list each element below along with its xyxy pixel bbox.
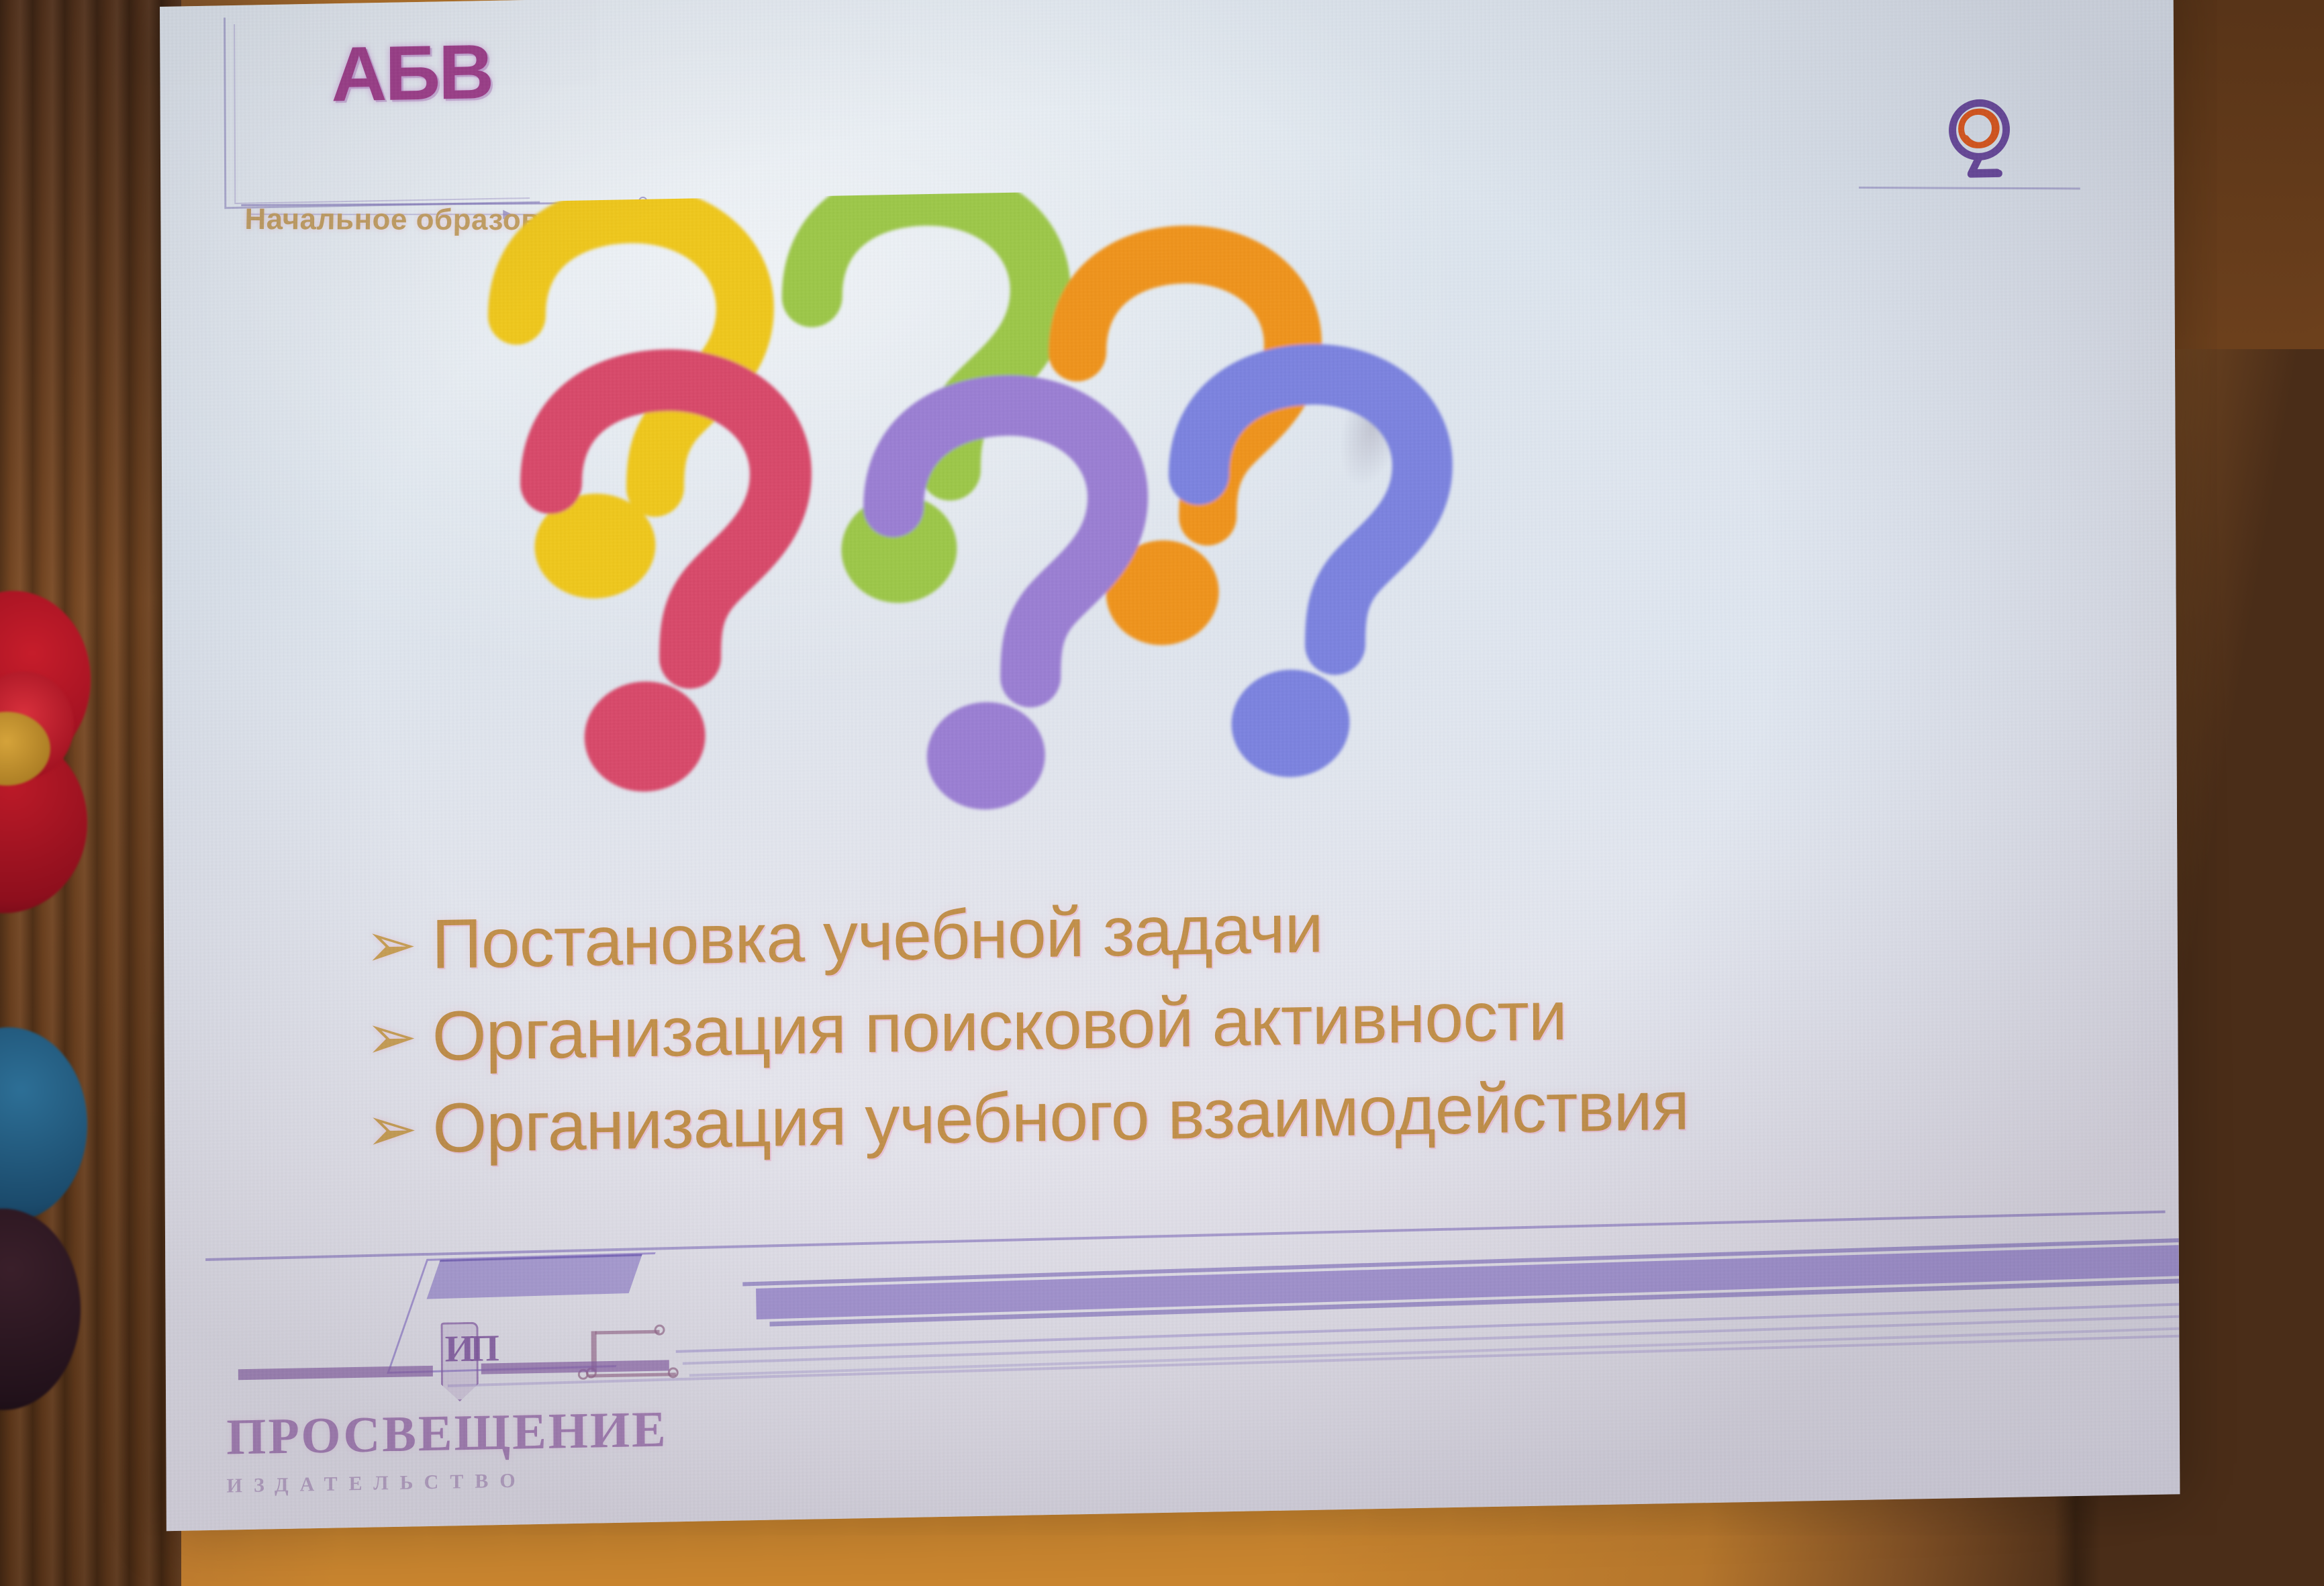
publisher-rule-left: [238, 1366, 433, 1380]
footer-hairline: [205, 1211, 2165, 1261]
globe-icon: [1939, 97, 2020, 185]
list-item: ➢ Организация поисковой активности: [365, 966, 2137, 1078]
publisher-logo: ИП ПРОСВЕЩЕНИЕ ИЗДАТЕЛЬСТВО: [226, 1313, 643, 1497]
question-mark-purple: [893, 404, 1120, 811]
list-item-label: Постановка учебной задачи: [432, 888, 1323, 984]
presentation-slide: АБВ Начальное образование: [160, 0, 2180, 1531]
publisher-name: ПРОСВЕЩЕНИЕ: [226, 1401, 642, 1466]
footer-parallelogram: [427, 1254, 642, 1299]
arrow-bullet-icon: ➢: [366, 1101, 418, 1158]
publisher-emblem: ИП: [226, 1313, 642, 1408]
projection-screen: АБВ Начальное образование: [160, 0, 2180, 1531]
question-mark-blue: [1198, 373, 1424, 779]
arrow-bullet-icon: ➢: [365, 1009, 417, 1066]
brand-logo-abv: АБВ: [331, 28, 492, 119]
footer-hairline: [689, 1327, 2179, 1377]
arrow-bullet-icon: ➢: [365, 917, 417, 974]
globe-underline: [1859, 187, 2080, 189]
publisher-subtitle: ИЗДАТЕЛЬСТВО: [227, 1467, 643, 1497]
list-item-label: Организация поисковой активности: [432, 976, 1567, 1077]
question-marks-cluster: [476, 183, 1566, 901]
bullet-list: ➢ Постановка учебной задачи ➢ Организаци…: [365, 874, 2138, 1182]
list-item: ➢ Организация учебного взаимодействия: [366, 1058, 2138, 1170]
publisher-monogram: ИП: [445, 1327, 495, 1370]
footer-band: [756, 1245, 2179, 1319]
publisher-rule-right: [481, 1360, 669, 1374]
list-item-label: Организация учебного взаимодействия: [432, 1066, 1689, 1169]
